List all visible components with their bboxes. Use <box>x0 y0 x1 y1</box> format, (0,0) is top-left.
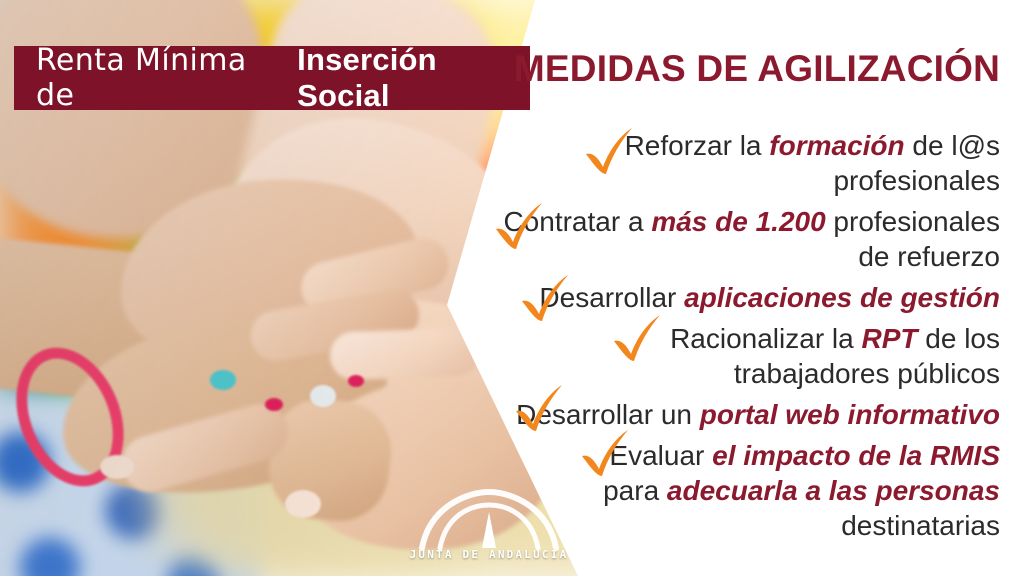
measure-highlight: el impacto de la RMIS <box>712 440 1000 471</box>
program-title-banner: Renta Mínima de Inserción Social <box>14 46 530 110</box>
measure-line: profesionales <box>470 163 1000 198</box>
measure-line: Racionalizar la RPT de los <box>470 321 1000 356</box>
measure-line: Desarrollar un portal web informativo <box>470 397 1000 432</box>
measure-text: Contratar a <box>503 206 651 237</box>
measures-content: MEDIDAS DE AGILIZACIÓN Reforzar la forma… <box>470 0 1024 576</box>
measure-highlight: aplicaciones de gestión <box>684 282 1000 313</box>
measure-line: destinatarias <box>470 508 1000 543</box>
measure-line: trabajadores públicos <box>470 356 1000 391</box>
measure-item: Desarrollar un portal web informativo <box>470 397 1000 432</box>
measure-line: de refuerzo <box>470 239 1000 274</box>
measure-line: para adecuarla a las personas <box>470 473 1000 508</box>
measure-text: Evaluar <box>609 440 712 471</box>
measure-highlight: adecuarla a las personas <box>667 475 1000 506</box>
measure-highlight: más de 1.200 <box>651 206 825 237</box>
measure-text: trabajadores públicos <box>734 358 1000 389</box>
measure-item: Racionalizar la RPT de lostrabajadores p… <box>470 321 1000 391</box>
measure-text: de l@s <box>905 130 1000 161</box>
measure-line: Desarrollar aplicaciones de gestión <box>470 280 1000 315</box>
measure-text: Desarrollar un <box>516 399 700 430</box>
measure-item: Contratar a más de 1.200 profesionalesde… <box>470 204 1000 274</box>
measure-text: de los <box>918 323 1001 354</box>
measure-item: Reforzar la formación de l@sprofesionale… <box>470 128 1000 198</box>
measure-text: Reforzar la <box>625 130 770 161</box>
measure-text: para <box>603 475 667 506</box>
measure-highlight: formación <box>769 130 904 161</box>
measure-text: Racionalizar la <box>670 323 861 354</box>
banner-title-light: Renta Mínima de <box>36 43 286 113</box>
measure-text: de refuerzo <box>858 241 1000 272</box>
measure-text: Desarrollar <box>539 282 684 313</box>
measure-highlight: portal web informativo <box>700 399 1000 430</box>
measure-item: Desarrollar aplicaciones de gestión <box>470 280 1000 315</box>
measure-text: destinatarias <box>841 510 1000 541</box>
measure-text: profesionales <box>826 206 1000 237</box>
measure-line: Contratar a más de 1.200 profesionales <box>470 204 1000 239</box>
measure-highlight: RPT <box>862 323 918 354</box>
poster-stage: Renta Mínima de Inserción Social JUNTA D… <box>0 0 1024 576</box>
page-title: MEDIDAS DE AGILIZACIÓN <box>514 48 1000 90</box>
measure-line: Reforzar la formación de l@s <box>470 128 1000 163</box>
measure-item: Evaluar el impacto de la RMISpara adecua… <box>470 438 1000 543</box>
measures-list: Reforzar la formación de l@sprofesionale… <box>470 128 1000 549</box>
measure-line: Evaluar el impacto de la RMIS <box>470 438 1000 473</box>
measure-text: profesionales <box>833 165 1000 196</box>
